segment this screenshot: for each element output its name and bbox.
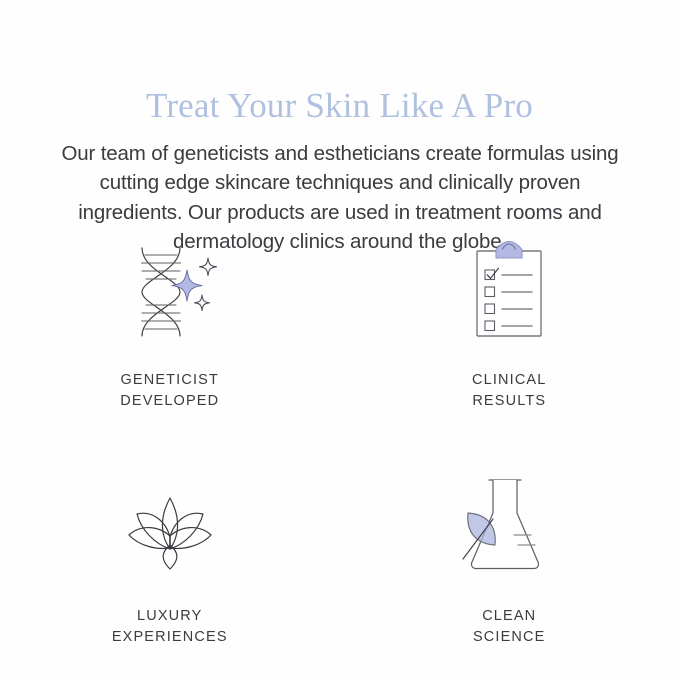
feature-label: Clean Science [473,606,546,648]
feature-label: Clinical Results [472,370,546,412]
lotus-flower-icon [117,468,223,580]
feature-luxury-experiences: Luxury Experiences [0,468,340,660]
feature-clean-science: Clean Science [340,468,679,660]
feature-label: Geneticist Developed [120,370,219,412]
feature-label: Luxury Experiences [112,606,228,648]
marketing-section: Treat Your Skin Like A Pro Our team of g… [0,0,679,679]
feature-grid: Geneticist Developed [0,236,679,660]
dna-sparkle-icon [118,236,222,348]
feature-geneticist-developed: Geneticist Developed [0,236,340,428]
feature-clinical-results: Clinical Results [340,236,679,428]
clipboard-checklist-icon [461,236,557,348]
flask-leaf-icon [459,468,559,580]
page-title: Treat Your Skin Like A Pro [0,85,679,127]
